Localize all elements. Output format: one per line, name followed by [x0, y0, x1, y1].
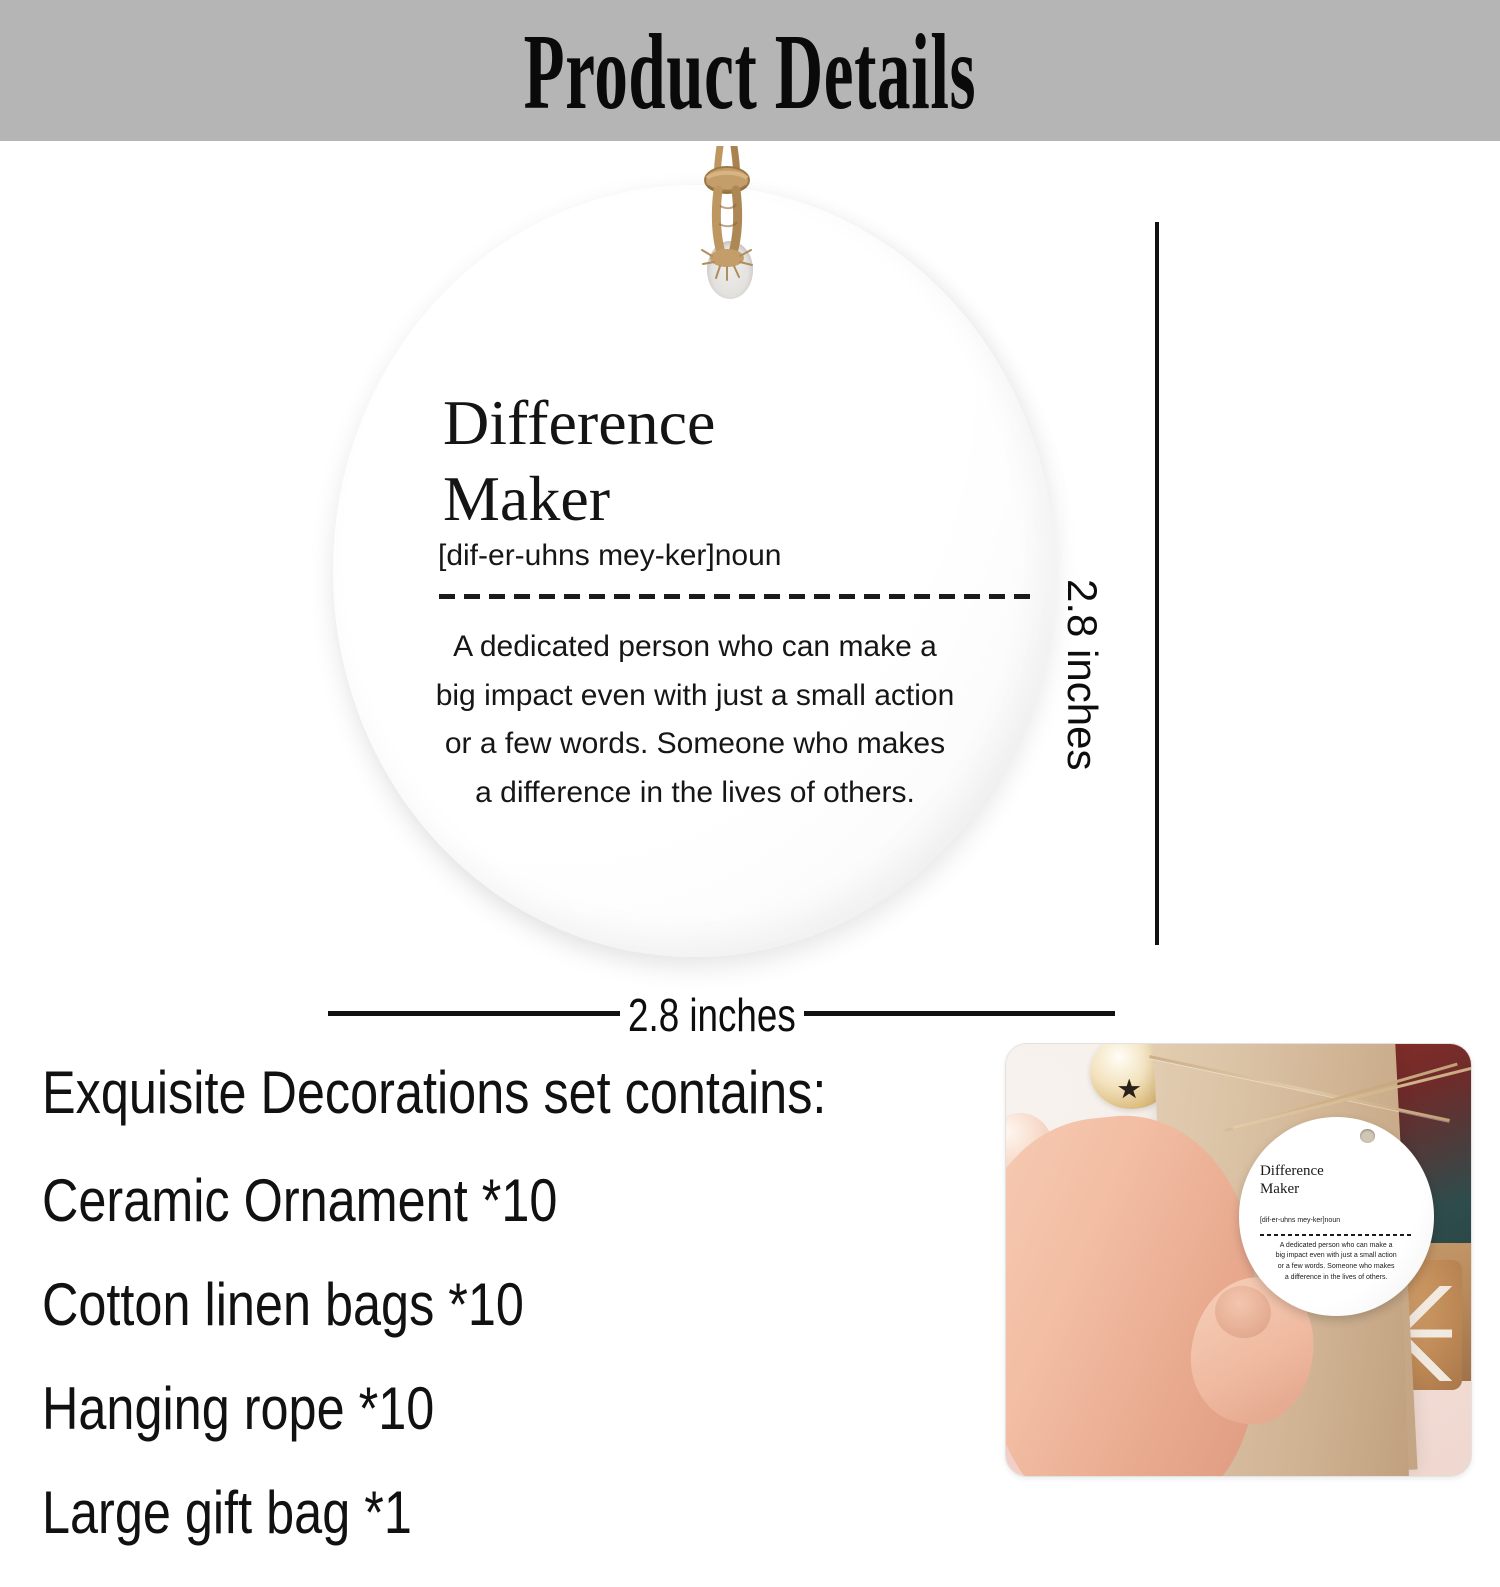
twine-rope-knot-icon [690, 146, 764, 296]
inset-body-line-1: A dedicated person who can make a [1250, 1241, 1422, 1252]
list-item: Cotton linen bags *10 [42, 1275, 848, 1335]
inset-ornament-pronunciation: [dif-er-uhns mey-ker]noun [1260, 1217, 1432, 1224]
lifestyle-photo-inset: Difference Maker [dif-er-uhns mey-ker]no… [1005, 1043, 1472, 1477]
inset-ornament-divider [1260, 1234, 1412, 1236]
inset-ornament-definition: A dedicated person who can make a big im… [1250, 1241, 1422, 1284]
inset-body-line-4: a difference in the lives of others. [1250, 1273, 1422, 1284]
width-dimension-label: 2.8 inches [620, 988, 804, 1042]
inset-title-line-1: Difference [1260, 1163, 1428, 1181]
ornament-body-line-2: big impact even with just a small action [405, 672, 985, 721]
ornament-preview: Difference Maker [dif-er-uhns mey-ker]no… [0, 141, 1130, 1041]
ornament-body-line-4: a difference in the lives of others. [405, 769, 985, 818]
ornament-title-line-1: Difference [443, 385, 963, 461]
ornament-pronunciation: [dif-er-uhns mey-ker]noun [438, 539, 978, 573]
inset-ornament-hole [1360, 1129, 1376, 1143]
ornament-body-line-3: or a few words. Someone who makes [405, 720, 985, 769]
page-title: Product Details [524, 19, 977, 127]
inset-title-line-2: Maker [1260, 1181, 1428, 1199]
ornament-title-line-2: Maker [443, 461, 963, 537]
set-contents-heading: Exquisite Decorations set contains: [42, 1063, 848, 1123]
ornament-title: Difference Maker [443, 385, 963, 536]
ornament-definition-text: A dedicated person who can make a big im… [405, 623, 985, 817]
inset-ornament-disc: Difference Maker [dif-er-uhns mey-ker]no… [1239, 1117, 1434, 1316]
height-dimension-label: 2.8 inches [1058, 565, 1106, 784]
header-banner: Product Details [0, 0, 1500, 141]
ornament-body-line-1: A dedicated person who can make a [405, 623, 985, 672]
ornament-dashed-divider [439, 594, 1039, 599]
set-contents-list: Exquisite Decorations set contains: Cera… [42, 1063, 1002, 1587]
list-item: Hanging rope *10 [42, 1379, 848, 1439]
ornament-printed-text: Difference Maker [dif-er-uhns mey-ker]no… [333, 185, 1055, 957]
ceramic-ornament-disc: Difference Maker [dif-er-uhns mey-ker]no… [333, 185, 1055, 957]
height-dimension-line [1155, 222, 1159, 945]
inset-body-line-3: or a few words. Someone who makes [1250, 1262, 1422, 1273]
inset-ornament-title: Difference Maker [1260, 1163, 1428, 1198]
inset-body-line-2: big impact even with just a small action [1250, 1251, 1422, 1262]
list-item: Large gift bag *1 [42, 1483, 848, 1543]
list-item: Ceramic Ornament *10 [42, 1171, 848, 1231]
